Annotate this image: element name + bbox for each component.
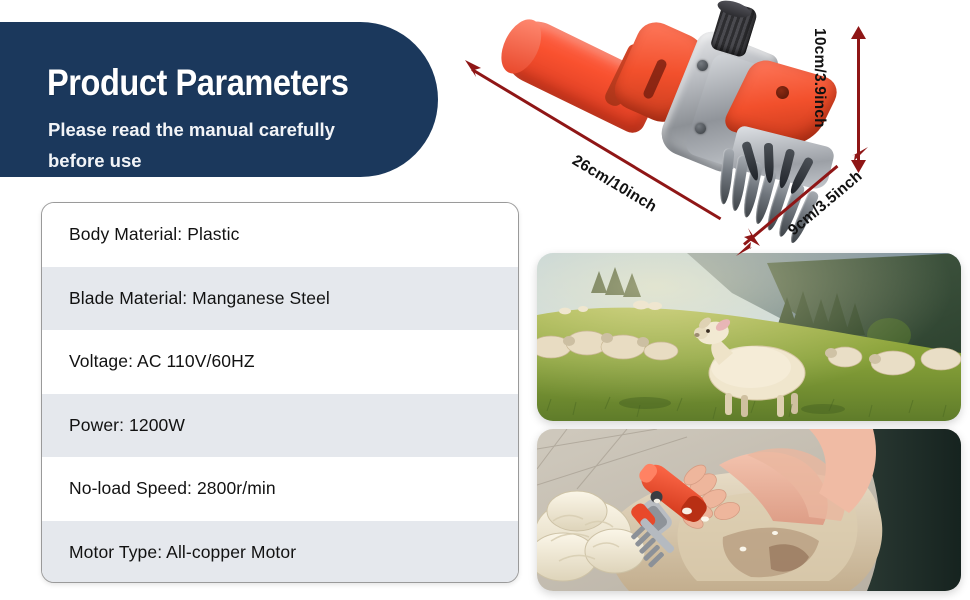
spec-row: Body Material: Plastic: [42, 203, 518, 267]
spec-label: Blade Material: Manganese Steel: [69, 288, 330, 309]
head-bolt: [697, 60, 708, 71]
banner-subtitle: Please read the manual carefully before …: [48, 114, 378, 176]
dimension-arrow-height-top: [851, 26, 866, 40]
spec-row: Power: 1200W: [42, 394, 518, 458]
header-banner: Product Parameters Please read the manua…: [0, 22, 438, 177]
nose-hole: [776, 86, 789, 99]
specification-card: Body Material: Plastic Blade Material: M…: [41, 202, 519, 583]
pasture-photo: [537, 253, 961, 421]
spec-label: Body Material: Plastic: [69, 224, 239, 245]
spec-row: Blade Material: Manganese Steel: [42, 267, 518, 331]
dimension-line-height: [857, 32, 860, 166]
sheep-shears-product-image: [500, 2, 840, 237]
product-hero: [440, 0, 970, 250]
shearing-photo: [537, 429, 961, 591]
spec-label: Power: 1200W: [69, 415, 185, 436]
dimension-arrow-width-start: [736, 238, 752, 256]
spec-label: Voltage: AC 110V/60HZ: [69, 351, 255, 372]
page-title: Product Parameters: [47, 62, 349, 104]
dimension-arrow-length-start: [465, 58, 481, 78]
spec-row: Voltage: AC 110V/60HZ: [42, 330, 518, 394]
dimension-arrow-width-end: [852, 147, 868, 165]
head-bolt: [695, 123, 706, 134]
dimension-label-height: 10cm/3.9inch: [810, 28, 828, 128]
spec-label: Motor Type: All-copper Motor: [69, 542, 296, 563]
spec-row: No-load Speed: 2800r/min: [42, 457, 518, 521]
spec-row: Motor Type: All-copper Motor: [42, 521, 518, 584]
spec-label: No-load Speed: 2800r/min: [69, 478, 276, 499]
